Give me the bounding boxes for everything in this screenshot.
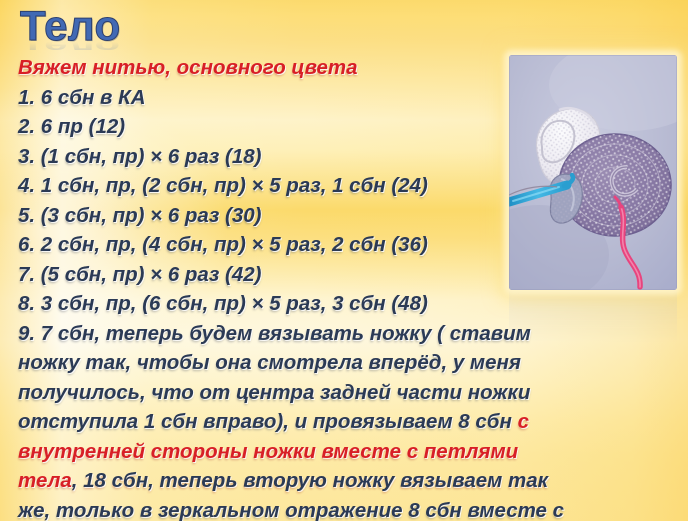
instruction-line-text: 6. 2 сбн, пр, (4 сбн, пр) × 5 раз, 2 сбн… — [18, 233, 428, 256]
instruction-line: внутренней стороны ножки вместе с петлям… — [18, 437, 674, 467]
instruction-line-text: отступила 1 сбн вправо), и провязываем 8… — [18, 410, 518, 433]
instruction-line: 9. 7 сбн, теперь будем вязывать ножку ( … — [18, 319, 674, 349]
instruction-line: ножку так, чтобы она смотрела вперёд, у … — [18, 348, 674, 378]
instruction-line-text: внутренней стороны ножки вместе с петлям… — [18, 440, 518, 463]
instruction-line: отступила 1 сбн вправо), и провязываем 8… — [18, 407, 674, 437]
instruction-line-text: 5. (3 сбн, пр) × 6 раз (30) — [18, 204, 261, 227]
instruction-line-tail: с — [518, 410, 529, 433]
instruction-line: же, только в зеркальном отражение 8 сбн … — [18, 496, 674, 521]
instruction-line: 1. 6 сбн в КА — [18, 83, 674, 113]
instruction-line-text: ножку так, чтобы она смотрела вперёд, у … — [18, 351, 521, 374]
instruction-line: 6. 2 сбн, пр, (4 сбн, пр) × 5 раз, 2 сбн… — [18, 230, 674, 260]
instruction-line: 8. 3 сбн, пр, (6 сбн, пр) × 5 раз, 3 сбн… — [18, 289, 674, 319]
instruction-line-tail: , 18 сбн, теперь вторую ножку вязываем т… — [72, 469, 548, 492]
instruction-lines: Вяжем нитью, основного цвета1. 6 сбн в К… — [18, 53, 674, 521]
instruction-line: 2. 6 пр (12) — [18, 112, 674, 142]
instruction-line: тела, 18 сбн, теперь вторую ножку вязыва… — [18, 466, 674, 496]
instruction-line: 5. (3 сбн, пр) × 6 раз (30) — [18, 201, 674, 231]
instruction-line: 4. 1 сбн, пр, (2 сбн, пр) × 5 раз, 1 сбн… — [18, 171, 674, 201]
title-block: Тело Тело — [20, 4, 121, 68]
instruction-line-text: 8. 3 сбн, пр, (6 сбн, пр) × 5 раз, 3 сбн… — [18, 292, 428, 315]
instruction-line: 7. (5 сбн, пр) × 6 раз (42) — [18, 260, 674, 290]
slide-canvas: Тело Тело Вяжем нитью, основного цвета1.… — [0, 0, 688, 521]
instruction-line-text: 1. 6 сбн в КА — [18, 86, 146, 109]
instruction-line-text: 7. (5 сбн, пр) × 6 раз (42) — [18, 263, 261, 286]
instruction-line-text: 9. 7 сбн, теперь будем вязывать ножку ( … — [18, 322, 531, 345]
instruction-line-text: получилось, что от центра задней части н… — [18, 381, 530, 404]
instruction-line-text: тела — [18, 469, 72, 492]
page-title-reflection: Тело — [20, 42, 121, 50]
instruction-line-text: 3. (1 сбн, пр) × 6 раз (18) — [18, 145, 261, 168]
instruction-line: получилось, что от центра задней части н… — [18, 378, 674, 408]
instruction-line: 3. (1 сбн, пр) × 6 раз (18) — [18, 142, 674, 172]
instruction-line-text: же, только в зеркальном отражение 8 сбн … — [18, 499, 564, 521]
instruction-line-text: 2. 6 пр (12) — [18, 115, 125, 138]
instruction-line-text: 4. 1 сбн, пр, (2 сбн, пр) × 5 раз, 1 сбн… — [18, 174, 428, 197]
